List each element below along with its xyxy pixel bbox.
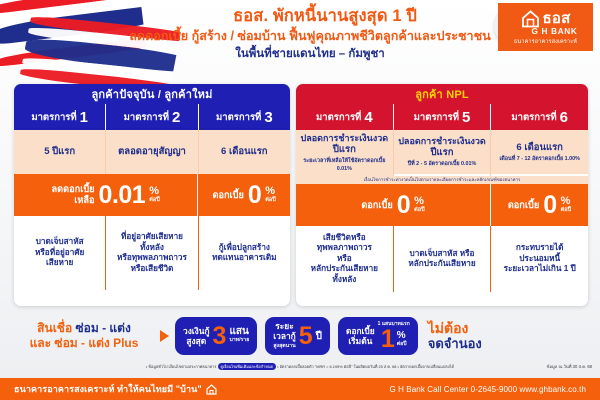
loan-product-line2-b: Plus	[110, 336, 139, 350]
loan-product-line2-a: และ ซ่อม - แต่ง	[30, 336, 110, 350]
measure-descriptions-row-left: บาดเจ็บสาหัส หรือที่อยู่อาศัย เสียหาย ที…	[14, 216, 290, 290]
loan-product-line1-b: ซ่อม - แต่ง	[72, 321, 131, 335]
measure-2-detail-cell: ตลอดอายุสัญญา	[105, 130, 197, 174]
npl-note: เงื่อนไขการชำระค่างวดเป็นไปตามรายละเอียด…	[296, 176, 588, 184]
m5-desc-line-1: หลักประกันเสียหาย	[408, 259, 475, 270]
pill-3-sub: ต่อปี	[397, 340, 407, 349]
panel-title-npl: ลูกค้า NPL	[296, 84, 588, 104]
measure-head-2[interactable]: มาตรการที่ 2	[105, 104, 197, 130]
measure-1-rate-label-line2: เหลือ	[52, 195, 95, 206]
measure-head-4[interactable]: มาตรการที่ 4	[296, 104, 393, 130]
pill-3-label-line1: ดอกเบี้ย	[346, 326, 375, 336]
m4-desc-line-4: ทั้งหลัง	[311, 275, 378, 286]
measure-5-description-cell: บาดเจ็บสาหัส หรือ หลักประกันเสียหาย	[393, 226, 491, 292]
pill-loan-amount: วงเงินกู้ สูงสุด 3 แสน บาท/ราย	[175, 317, 257, 355]
panel-current-new-customers: ลูกค้าปัจจุบัน / ลูกค้าใหม่ มาตรการที่ 1…	[14, 84, 290, 306]
pill-1-unit: แสน	[229, 327, 248, 336]
subtitle-line-1: ลดดอกเบี้ย กู้สร้าง / ซ่อมบ้าน ฟื้นฟูคุณ…	[120, 29, 500, 44]
measure-4-number: 4	[364, 110, 372, 125]
loan-product-label: สินเชื่อ ซ่อม - แต่ง และ ซ่อม - แต่ง Plu…	[14, 321, 154, 351]
pill-3-label-line2: เริ่มต้น	[346, 336, 375, 346]
measure-4-prefix: มาตรการที่	[316, 110, 361, 125]
measure-3-rate-percent: %	[265, 186, 275, 197]
measure-3-rate-value: 0	[248, 183, 261, 208]
measure-6-prefix: มาตรการที่	[511, 110, 556, 125]
measure-5-number: 5	[462, 110, 470, 125]
fineprint-part-a: • ข้อมูลทั่วไป เงื่อนไขตามประกาศธนาคาร	[146, 364, 217, 369]
m2-desc-line-1: ทั้งหลัง	[117, 243, 187, 254]
measure-4-detail-cell: ปลอดการชำระเงินงวด ปีแรก ระยะเวลาที่เหลื…	[296, 130, 393, 176]
fineprint-part-c: • อัตราดอกเบี้ยอาจเปลี่ยนแปลงได้	[398, 364, 455, 369]
pill-2-value: 5	[299, 324, 313, 349]
footer-slogan-text: ธนาคารอาคารสงเคราะห์ ทำให้คนไทยมี "บ้าน"	[14, 382, 202, 396]
measure-6-rate-percent: %	[561, 196, 571, 207]
measure-3-rate-period: ต่อปี	[265, 197, 276, 204]
measure-1-rate-percent: %	[149, 186, 159, 197]
measure-2-prefix: มาตรการที่	[124, 110, 169, 125]
logo-thai-name: ธอส	[543, 11, 571, 26]
pill-1-sub: บาท/ราย	[229, 336, 249, 345]
measure-1-prefix: มาตรการที่	[31, 110, 76, 125]
measure-heads-row-left: มาตรการที่ 1 มาตรการที่ 2 มาตรการที่ 3	[14, 104, 290, 130]
m4-desc-line-3: หลักประกันเสียหาย	[311, 264, 378, 275]
m2-desc-line-0: ที่อยู่อาศัยเสียหาย	[117, 232, 187, 243]
pill-1-label-line1: วงเงินกู้	[183, 326, 210, 336]
measure-3-description-cell: กู้เพื่อปลูกสร้าง ทดแทนอาคารเดิม	[198, 216, 290, 290]
measure-4-detail-line1: ปลอดการชำระเงินงวด	[301, 133, 389, 144]
pill-2-label-line2: เวลากู้	[273, 331, 295, 341]
poster-header: ธอส. พักหนี้นานสูงสุด 1 ปี ลดดอกเบี้ย กู…	[0, 0, 600, 74]
measure-3-prefix: มาตรการที่	[216, 110, 261, 125]
measure-head-5[interactable]: มาตรการที่ 5	[393, 104, 491, 130]
measure-2-number: 2	[172, 110, 180, 125]
measure-4-rate-value: 0	[397, 193, 410, 218]
measure-6-description-cell: กระทบรายได้ ประนอมหนี้ ระยะเวลาไม่เกิน 1…	[490, 226, 588, 292]
m1-desc-line-1: หรือที่อยู่อาศัย	[35, 248, 84, 259]
m3-desc-line-1: ทดแทนอาคารเดิม	[212, 253, 277, 264]
pill-1-label-line2: สูงสุด	[183, 336, 210, 346]
no-mortgage-line2: จดจำนอง	[428, 336, 482, 352]
pill-2-label-line3: สูงสุดนาน	[273, 341, 295, 351]
fineprint-row: • ข้อมูลทั่วไป เงื่อนไขตามประกาศธนาคาร ด…	[0, 363, 600, 370]
measure-1-description-cell: บาดเจ็บสาหัส หรือที่อยู่อาศัย เสียหาย	[14, 216, 105, 290]
poster-root: ธอส. พักหนี้นานสูงสุด 1 ปี ลดดอกเบี้ย กู…	[0, 0, 600, 400]
no-mortgage-callout: ไม่ต้อง จดจำนอง	[428, 320, 482, 352]
measure-4-detail-line2: ปีแรก	[333, 144, 356, 156]
measure-rates-row-right: ดอกเบี้ย 0 % ต่อปี ดอกเบี้ย 0 % ต่อปี	[296, 184, 588, 226]
measure-4-detail-sub: ระยะเวลาที่เหลือให้ใช้อัตราดอกเบี้ย 0.01…	[298, 157, 391, 173]
measure-3-detail: 6 เดือนแรก	[221, 146, 268, 158]
pill-3-value: 1	[381, 327, 395, 352]
pill-3-unit: %	[397, 331, 406, 340]
measure-head-6[interactable]: มาตรการที่ 6	[490, 104, 588, 130]
m6-desc-line-0: กระทบรายได้	[504, 243, 576, 254]
benefits-strip: สินเชื่อ ซ่อม - แต่ง และ ซ่อม - แต่ง Plu…	[14, 312, 588, 360]
measure-details-row-left: 5 ปีแรก ตลอดอายุสัญญา 6 เดือนแรก	[14, 130, 290, 174]
footer-contact: G H Bank Call Center 0-2645-9000 www.ghb…	[389, 385, 586, 394]
measure-4-description-cell: เสียชีวิตหรือ ทุพพลภาพถาวร หรือ หลักประก…	[296, 226, 393, 292]
m3-desc-line-0: กู้เพื่อปลูกสร้าง	[212, 243, 277, 254]
measure-4-rate-percent: %	[414, 196, 424, 207]
measure-rates-row-left: ลดดอกเบี้ย เหลือ 0.01 % ต่อปี ดอกเบี้ย 0…	[14, 174, 290, 216]
m1-desc-line-2: เสียหาย	[35, 258, 84, 269]
measure-5-prefix: มาตรการที่	[414, 110, 459, 125]
measure-1-number: 1	[80, 110, 88, 125]
fineprint-part-b: • อัตราดอกเบี้ยลอยตัว "MRR = 6.195% ต่อป…	[277, 364, 396, 369]
measure-descriptions-row-right: เสียชีวิตหรือ ทุพพลภาพถาวร หรือ หลักประก…	[296, 226, 588, 292]
m1-desc-line-0: บาดเจ็บสาหัส	[35, 237, 84, 248]
measure-6-rate-period: ต่อปี	[561, 207, 572, 214]
measure-1-rate-period: ต่อปี	[149, 197, 160, 204]
pill-interest-rate: ดอกเบี้ย เริ่มต้น 1 แสนบาทแรก 1 % ต่อปี	[338, 317, 418, 355]
m5-desc-line-0: บาดเจ็บสาหัส หรือ	[408, 249, 475, 260]
measure-1-detail: 5 ปีแรก	[44, 146, 75, 158]
measure-3-detail-cell: 6 เดือนแรก	[198, 130, 290, 174]
pill-1-value: 3	[213, 324, 227, 349]
house-icon	[206, 384, 217, 395]
measure-6-rate-label: ดอกเบี้ย	[508, 200, 539, 211]
measure-4-rate-label: ดอกเบี้ย	[361, 200, 392, 211]
measure-head-1[interactable]: มาตรการที่ 1	[14, 104, 105, 130]
m2-desc-line-2: หรือทุพพลภาพถาวร	[117, 253, 187, 264]
measure-6-rate-value: 0	[543, 193, 556, 218]
measure-4-5-rate-cell: ดอกเบี้ย 0 % ต่อปี	[296, 184, 490, 226]
measure-5-detail-sub: ปีที่ 2 - 5 อัตราดอกเบี้ย 0.01%	[408, 160, 477, 168]
measure-3-rate-label: ดอกเบี้ย	[212, 190, 243, 201]
measure-4-rate-period: ต่อปี	[414, 207, 425, 214]
arrow-right-icon	[160, 330, 169, 342]
measure-5-detail-line2: ปีแรก	[431, 147, 454, 159]
measure-1-detail-cell: 5 ปีแรก	[14, 130, 105, 174]
measure-6-rate-cell: ดอกเบี้ย 0 % ต่อปี	[490, 184, 588, 226]
loan-product-line1-a: สินเชื่อ	[37, 321, 72, 335]
pill-loan-term: ระยะ เวลากู้ สูงสุดนาน 5 ปี	[265, 317, 330, 355]
m4-desc-line-2: หรือ	[311, 254, 378, 265]
footer-slogan: ธนาคารอาคารสงเคราะห์ ทำให้คนไทยมี "บ้าน"	[14, 382, 217, 396]
measure-1-rate-value: 0.01	[99, 183, 146, 208]
measure-2-description-cell: ที่อยู่อาศัยเสียหาย ทั้งหลัง หรือทุพพลภา…	[105, 216, 197, 290]
subtitle-line-2: ในพื้นที่ชายแดนไทย – กัมพูชา	[120, 47, 500, 61]
as-of-date: ข้อมูล ณ วันที่ 30 ส.ค. 68	[547, 363, 592, 370]
measure-3-rate-cell: ดอกเบี้ย 0 % ต่อปี	[197, 174, 290, 216]
no-mortgage-line1: ไม่ต้อง	[428, 320, 482, 336]
measure-1-2-rate-cell: ลดดอกเบี้ย เหลือ 0.01 % ต่อปี	[14, 174, 197, 216]
logo-thai-subtitle: ธนาคารอาคารสงเคราะห์	[514, 38, 577, 46]
m6-desc-line-2: ระยะเวลาไม่เกิน 1 ปี	[504, 264, 576, 275]
panel-title-current-new: ลูกค้าปัจจุบัน / ลูกค้าใหม่	[14, 84, 290, 104]
measure-heads-row-right: มาตรการที่ 4 มาตรการที่ 5 มาตรการที่ 6	[296, 104, 588, 130]
measure-3-number: 3	[264, 110, 272, 125]
measure-5-detail-cell: ปลอดการชำระเงินงวด ปีแรก ปีที่ 2 - 5 อัต…	[393, 130, 491, 176]
panel-npl-customers: ลูกค้า NPL มาตรการที่ 4 มาตรการที่ 5 มาต…	[296, 84, 588, 306]
footer-bar: ธนาคารอาคารสงเคราะห์ ทำให้คนไทยมี "บ้าน"…	[0, 378, 600, 400]
measure-head-3[interactable]: มาตรการที่ 3	[198, 104, 290, 130]
m6-desc-line-1: ประนอมหนี้	[504, 254, 576, 265]
measure-1-rate-label-line1: ลดดอกเบี้ย	[52, 184, 95, 195]
house-logo-icon	[521, 10, 540, 28]
measure-details-row-right: ปลอดการชำระเงินงวด ปีแรก ระยะเวลาที่เหลื…	[296, 130, 588, 176]
ghbank-logo: ธอส G H BANK ธนาคารอาคารสงเคราะห์	[498, 3, 593, 51]
m4-desc-line-1: ทุพพลภาพถาวร	[311, 243, 378, 254]
measure-6-detail-sub: เดือนที่ 7 - 12 อัตราดอกเบี้ย 1.00%	[499, 155, 579, 163]
measure-6-detail-cell: 6 เดือนแรก เดือนที่ 7 - 12 อัตราดอกเบี้ย…	[490, 130, 588, 176]
page-title: ธอส. พักหนี้นานสูงสุด 1 ปี	[160, 7, 490, 26]
measure-2-detail: ตลอดอายุสัญญา	[118, 146, 186, 158]
measure-5-detail-line1: ปลอดการชำระเงินงวด	[398, 136, 486, 147]
measure-6-number: 6	[560, 110, 568, 125]
m2-desc-line-3: หรือเสียชีวิต	[117, 264, 187, 275]
m4-desc-line-0: เสียชีวิตหรือ	[311, 233, 378, 244]
measure-6-detail-line1: 6 เดือนแรก	[516, 142, 563, 154]
pill-2-label-line1: ระยะ	[273, 321, 295, 331]
pill-2-unit: ปี	[316, 332, 322, 341]
fineprint-chip[interactable]: ดูเงื่อนไขเพิ่มเติมและข้อกำหนด	[218, 363, 277, 370]
